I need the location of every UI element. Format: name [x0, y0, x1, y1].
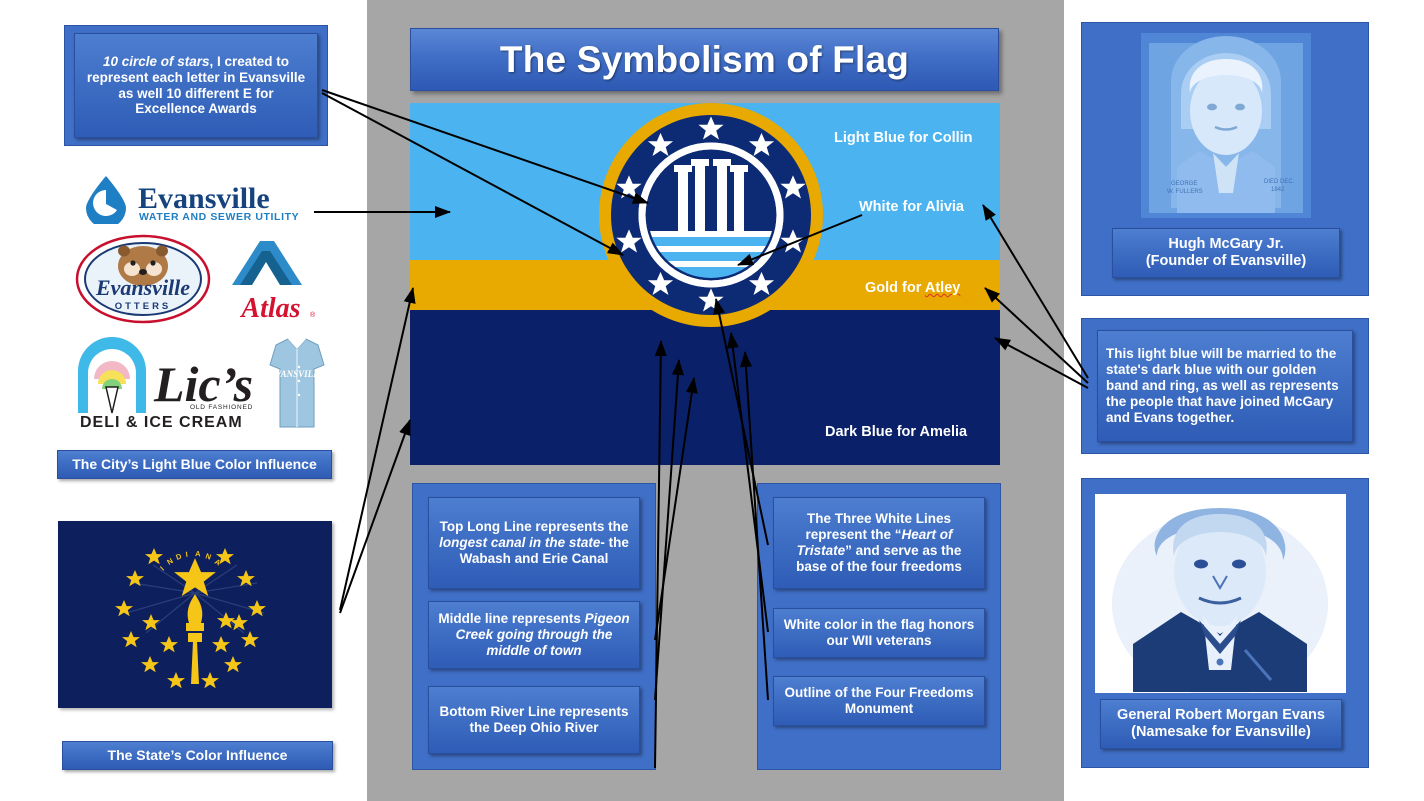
- mcgary-caption: Hugh McGary Jr. (Founder of Evansville): [1112, 228, 1340, 278]
- logo-evansville-jersey: EVANSVILLE: [268, 333, 326, 433]
- flag-label-white: White for Alivia: [859, 199, 964, 215]
- evans-caption-line1: General Robert Morgan Evans: [1117, 707, 1325, 724]
- svg-text:DIED DEC.: DIED DEC.: [1264, 179, 1295, 185]
- flag-label-gold-prefix: Gold for: [865, 280, 925, 296]
- note-stars-emphasis: 10 circle of stars: [103, 54, 210, 69]
- flag-label-gold-name: Atley: [925, 280, 960, 296]
- mcgary-portrait: GEORGE W. FULLERS DIED DEC. 1842: [1141, 33, 1311, 218]
- svg-text:W. FULLERS: W. FULLERS: [1167, 189, 1203, 195]
- logo-atlas: Atlas ®: [222, 233, 320, 325]
- flag-label-light-blue: Light Blue for Collin: [834, 130, 973, 146]
- logo-evansville-otters: Evansville OTTERS: [74, 233, 212, 325]
- mcgary-portrait-graphic: GEORGE W. FULLERS DIED DEC. 1842: [1141, 33, 1311, 218]
- slide-canvas: The Symbolism of Flag: [0, 0, 1424, 801]
- note-bottom-river-line: Bottom River Line represents the Deep Oh…: [428, 686, 640, 754]
- note-three-white-lines: The Three White Lines represent the “Hea…: [773, 497, 985, 589]
- svg-text:GEORGE: GEORGE: [1171, 181, 1197, 187]
- city-color-influence-label: The City’s Light Blue Color Influence: [57, 450, 332, 479]
- note-circle-of-stars: 10 circle of stars, I created to represe…: [74, 33, 318, 138]
- svg-text:OTTERS: OTTERS: [115, 301, 172, 312]
- svg-text:DELI & ICE CREAM: DELI & ICE CREAM: [80, 414, 243, 431]
- svg-text:Evansville: Evansville: [95, 275, 190, 300]
- note-four-freedoms-monument: Outline of the Four Freedoms Monument: [773, 676, 985, 726]
- indiana-flag-graphic: I N D I A N A: [58, 521, 332, 708]
- flag-label-dark-blue: Dark Blue for Amelia: [825, 424, 967, 440]
- svg-text:A: A: [195, 549, 202, 558]
- evans-caption: General Robert Morgan Evans (Namesake fo…: [1100, 699, 1342, 749]
- evans-portrait-graphic: [1095, 494, 1346, 693]
- svg-text:WATER AND SEWER UTILITY: WATER AND SEWER UTILITY: [139, 211, 299, 223]
- svg-text:1842: 1842: [1271, 187, 1285, 193]
- note-top-long-line: Top Long Line represents the longest can…: [428, 497, 640, 589]
- svg-text:Atlas: Atlas: [239, 293, 300, 324]
- evans-caption-line2: (Namesake for Evansville): [1117, 724, 1325, 741]
- svg-text:EVANSVILLE: EVANSVILLE: [268, 369, 324, 379]
- city-logo-board: Evansville WATER AND SEWER UTILITY Evans…: [62, 163, 328, 443]
- mcgary-caption-line2: (Founder of Evansville): [1146, 253, 1306, 270]
- mcgary-caption-line1: Hugh McGary Jr.: [1146, 236, 1306, 253]
- flag-band-dark-blue: [410, 310, 1000, 465]
- svg-text:®: ®: [310, 311, 316, 319]
- flag-emblem: [595, 103, 827, 331]
- page-title: The Symbolism of Flag: [410, 28, 999, 91]
- note-light-blue-marriage: This light blue will be married to the s…: [1097, 330, 1353, 442]
- note-white-color-veterans: White color in the flag honors our WII v…: [773, 608, 985, 658]
- state-color-influence-label: The State’s Color Influence: [62, 741, 333, 770]
- logo-lics-deli-ice-cream: Lic’s OLD FASHIONED DELI & ICE CREAM: [72, 335, 268, 431]
- note-middle-line: Middle line represents Pigeon Creek goin…: [428, 601, 640, 669]
- indiana-state-flag: I N D I A N A: [58, 521, 332, 708]
- evans-portrait: [1095, 494, 1346, 693]
- svg-text:OLD FASHIONED: OLD FASHIONED: [190, 404, 253, 411]
- flag-graphic: Light Blue for Collin White for Alivia G…: [410, 103, 1000, 465]
- flag-label-gold: Gold for Atley: [865, 280, 960, 296]
- logo-evansville-water-sewer: Evansville WATER AND SEWER UTILITY: [78, 172, 312, 224]
